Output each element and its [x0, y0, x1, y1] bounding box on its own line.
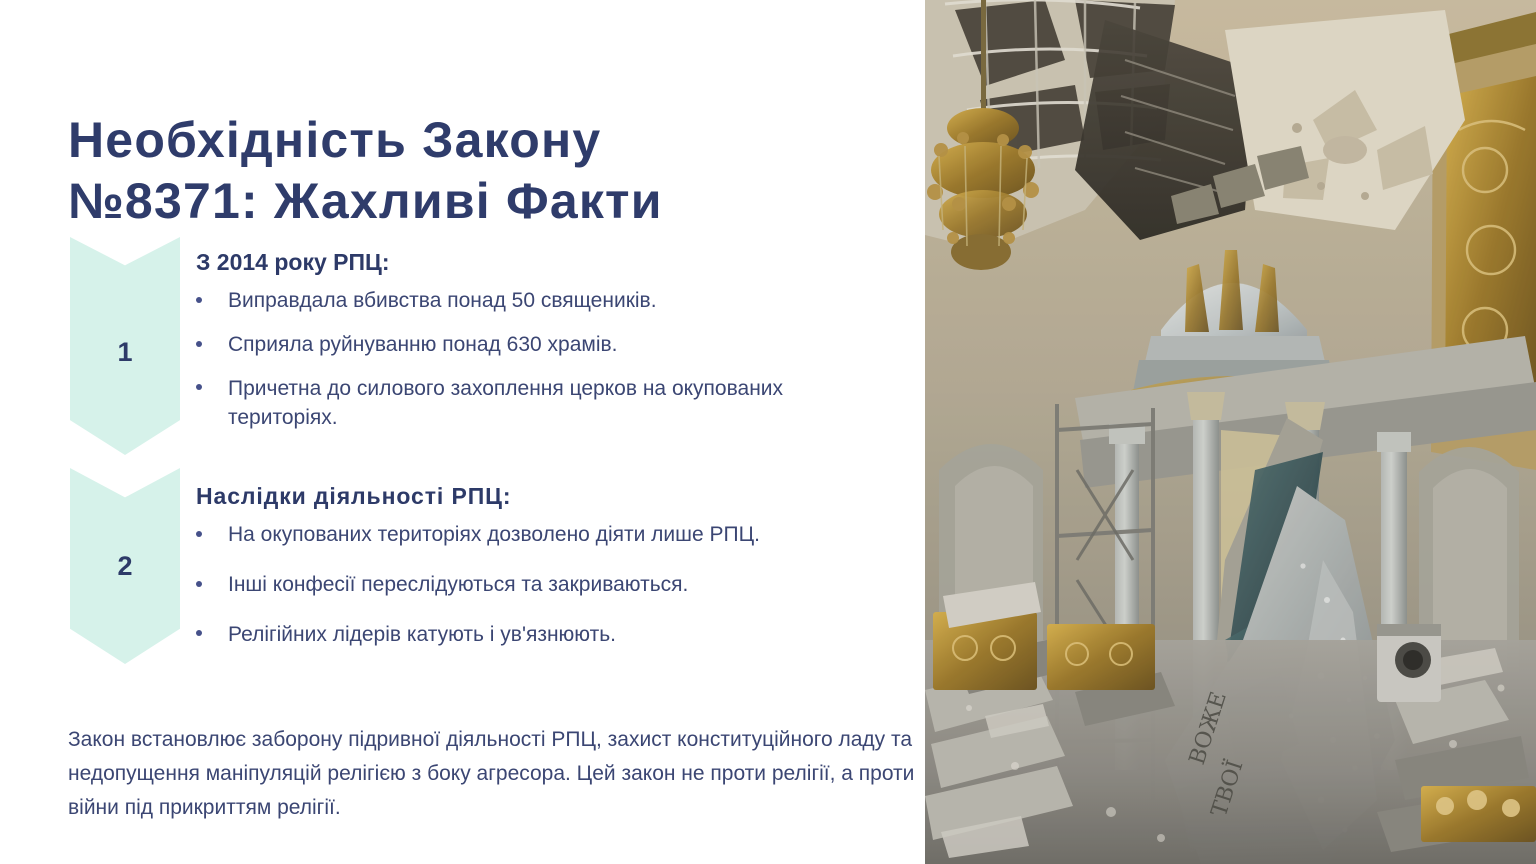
bullet-dot-icon [196, 297, 202, 303]
block-heading-1: З 2014 року РПЦ: [196, 248, 896, 278]
list-item: На окупованих територіях дозволено діяти… [196, 520, 896, 550]
bullet-list-1: Виправдала вбивства понад 50 священиків.… [196, 286, 896, 433]
list-item-text: Причетна до силового захоплення церков н… [228, 377, 783, 430]
list-item: Сприяла руйнуванню понад 630 храмів. [196, 330, 896, 360]
page-title: Необхідність Закону №8371: Жахливі Факти [68, 110, 848, 232]
bullet-dot-icon [196, 630, 202, 636]
destroyed-cathedral-interior-photo: ВОЖЕ ТВОЇ [925, 0, 1536, 864]
list-item: Виправдала вбивства понад 50 священиків. [196, 286, 896, 316]
list-item-text: Виправдала вбивства понад 50 священиків. [228, 289, 657, 312]
footer-note: Закон встановлює заборону підривної діял… [68, 723, 928, 825]
list-item-text: На окупованих територіях дозволено діяти… [228, 523, 760, 546]
slide-content-column: Необхідність Закону №8371: Жахливі Факти… [0, 0, 925, 864]
bullet-dot-icon [196, 531, 202, 537]
list-item: Причетна до силового захоплення церков н… [196, 374, 896, 434]
list-item: Інші конфесії переслідуються та закриваю… [196, 570, 896, 600]
bullet-dot-icon [196, 341, 202, 347]
list-item-text: Сприяла руйнуванню понад 630 храмів. [228, 333, 617, 356]
bullet-dot-icon [196, 384, 202, 390]
block-heading-2: Наслідки діяльності РПЦ: [196, 482, 896, 512]
photo-illustration: ВОЖЕ ТВОЇ [925, 0, 1536, 864]
list-item-text: Інші конфесії переслідуються та закриваю… [228, 573, 688, 596]
step-marker-chevron-1: 1 [70, 237, 180, 455]
content-block-1: З 2014 року РПЦ: Виправдала вбивства пон… [196, 248, 896, 447]
list-item-text: Релігійних лідерів катують і ув'язнюють. [228, 623, 616, 646]
bullet-list-2: На окупованих територіях дозволено діяти… [196, 520, 896, 649]
presentation-slide: Необхідність Закону №8371: Жахливі Факти… [0, 0, 1536, 864]
list-item: Релігійних лідерів катують і ув'язнюють. [196, 620, 896, 650]
content-block-2: Наслідки діяльності РПЦ: На окупованих т… [196, 482, 896, 669]
step-marker-chevron-2: 2 [70, 468, 180, 664]
bullet-dot-icon [196, 581, 202, 587]
step-number-1: 1 [70, 337, 180, 368]
step-number-2: 2 [70, 551, 180, 582]
